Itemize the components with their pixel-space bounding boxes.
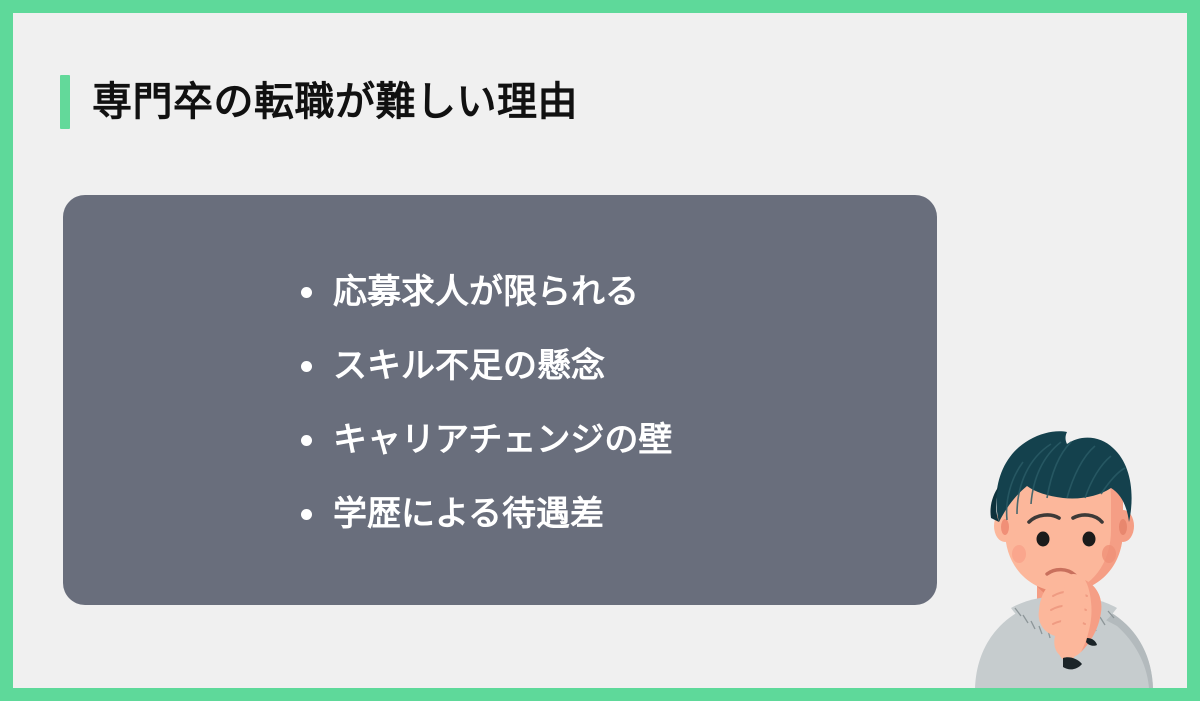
ear-left-inner bbox=[1001, 519, 1009, 535]
list-item-label: 応募求人が限られる bbox=[333, 275, 639, 309]
cheek-left bbox=[1012, 545, 1026, 563]
title-label: 専門卒の転職が難しい理由 bbox=[92, 82, 578, 122]
eye-right bbox=[1083, 532, 1096, 547]
list-item-label: キャリアチェンジの壁 bbox=[333, 423, 672, 457]
slide-root: 専門卒の転職が難しい理由 応募求人が限られる スキル不足の懸念 キャリアチェンジ… bbox=[0, 0, 1200, 701]
list-item: 応募求人が限られる bbox=[301, 255, 672, 329]
bullet-list: 応募求人が限られる スキル不足の懸念 キャリアチェンジの壁 学歴による待遇差 bbox=[301, 255, 672, 551]
list-item-label: 学歴による待遇差 bbox=[333, 497, 604, 531]
bullet-dot-icon bbox=[301, 287, 312, 298]
content-card: 応募求人が限られる スキル不足の懸念 キャリアチェンジの壁 学歴による待遇差 bbox=[63, 195, 937, 605]
cheek-right bbox=[1102, 545, 1116, 563]
bullet-dot-icon bbox=[301, 361, 312, 372]
list-item: 学歴による待遇差 bbox=[301, 477, 672, 551]
bullet-dot-icon bbox=[301, 435, 312, 446]
bullet-dot-icon bbox=[301, 509, 312, 520]
ear-right-inner bbox=[1119, 519, 1127, 535]
page-title: 専門卒の転職が難しい理由 bbox=[60, 75, 578, 129]
title-accent-bar bbox=[60, 75, 70, 129]
list-item-label: スキル不足の懸念 bbox=[333, 349, 605, 383]
thinking-man-illustration bbox=[939, 426, 1187, 688]
eye-left bbox=[1037, 532, 1050, 547]
slide-inner-panel: 専門卒の転職が難しい理由 応募求人が限られる スキル不足の懸念 キャリアチェンジ… bbox=[13, 13, 1187, 688]
list-item: キャリアチェンジの壁 bbox=[301, 403, 672, 477]
list-item: スキル不足の懸念 bbox=[301, 329, 672, 403]
